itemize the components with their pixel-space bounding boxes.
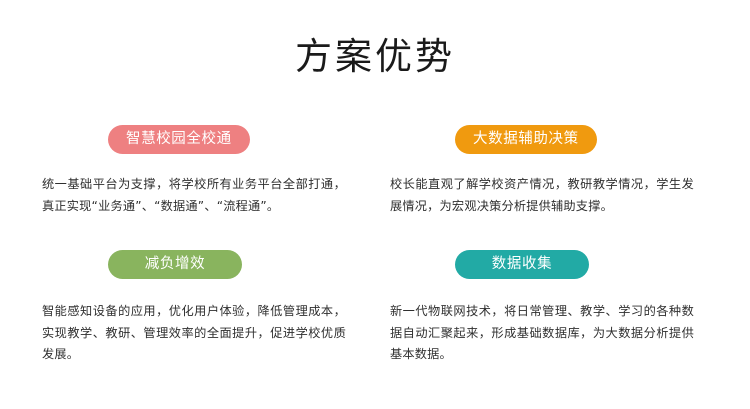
badge-wrap-3: 减负增效 (42, 243, 372, 285)
badge-wrap-4: 数据收集 (390, 243, 720, 285)
advantages-grid: 智慧校园全校通 统一基础平台为支撑，将学校所有业务平台全部打通，真正实现“业务通… (0, 118, 750, 398)
badge-wrap-1: 智慧校园全校通 (42, 118, 372, 160)
advantage-card-3: 减负增效 智能感知设备的应用，优化用户体验，降低管理成本，实现教学、教研、管理效… (42, 243, 372, 366)
badge-big-data-decision[interactable]: 大数据辅助决策 (455, 125, 597, 154)
advantage-body-1: 统一基础平台为支撑，将学校所有业务平台全部打通，真正实现“业务通”、“数据通”、… (42, 174, 346, 217)
slide-canvas: 方案优势 智慧校园全校通 统一基础平台为支撑，将学校所有业务平台全部打通，真正实… (0, 0, 750, 409)
badge-wrap-2: 大数据辅助决策 (390, 118, 720, 160)
advantage-card-1: 智慧校园全校通 统一基础平台为支撑，将学校所有业务平台全部打通，真正实现“业务通… (42, 118, 372, 217)
advantage-card-4: 数据收集 新一代物联网技术，将日常管理、教学、学习的各种数据自动汇聚起来，形成基… (390, 243, 720, 366)
advantage-body-3: 智能感知设备的应用，优化用户体验，降低管理成本，实现教学、教研、管理效率的全面提… (42, 301, 346, 366)
page-title: 方案优势 (0, 34, 750, 80)
advantage-body-4: 新一代物联网技术，将日常管理、教学、学习的各种数据自动汇聚起来，形成基础数据库，… (390, 301, 694, 366)
badge-burden-reduction[interactable]: 减负增效 (108, 250, 242, 279)
advantage-card-2: 大数据辅助决策 校长能直观了解学校资产情况，教研教学情况，学生发展情况，为宏观决… (390, 118, 720, 217)
badge-data-collection[interactable]: 数据收集 (455, 250, 589, 279)
advantage-body-2: 校长能直观了解学校资产情况，教研教学情况，学生发展情况，为宏观决策分析提供辅助支… (390, 174, 694, 217)
badge-smart-campus[interactable]: 智慧校园全校通 (108, 125, 250, 154)
